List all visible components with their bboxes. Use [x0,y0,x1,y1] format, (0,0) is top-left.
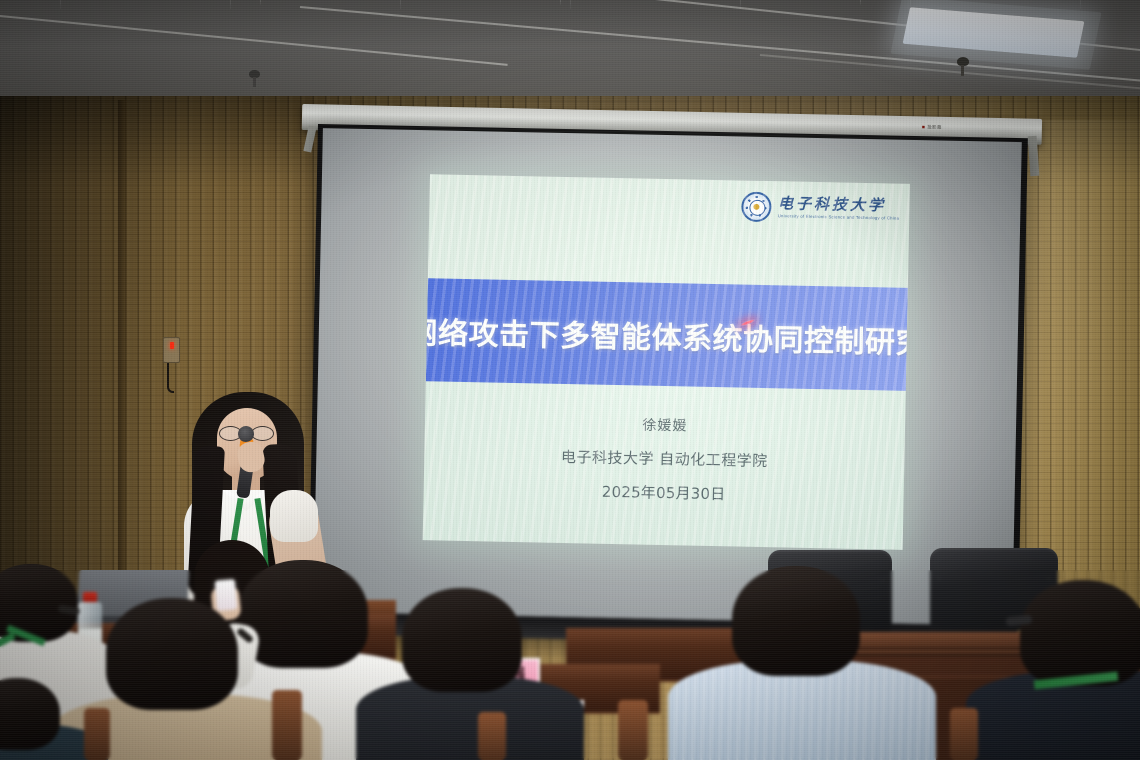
projection-screen: 电子科技大学 University of Electronic Science … [308,124,1028,648]
presenter-affiliation: 电子科技大学 自动化工程学院 [561,446,768,471]
slide-title-band: 网络攻击下多智能体系统协同控制研究 [426,278,908,391]
projected-slide: 电子科技大学 University of Electronic Science … [423,174,910,550]
slide-metadata: 徐媛媛 电子科技大学 自动化工程学院 2025年05月30日 [424,410,906,508]
audience-member-head [732,566,860,676]
glasses-lens-right [251,426,274,441]
audience-member-head [1020,580,1140,686]
presenter-name: 徐媛媛 [642,415,687,436]
wall-control-device[interactable] [163,337,180,363]
screen-surface: 电子科技大学 University of Electronic Science … [313,128,1022,626]
lecture-hall-scene: ■投影幕 电子科技大学 University of Electronic Sci… [0,0,1140,760]
audience-member-head [402,588,522,692]
university-name-en: University of Electronic Science and Tec… [778,214,900,221]
wooden-chair-back [272,690,302,760]
university-logo-text: 电子科技大学 University of Electronic Science … [778,196,900,221]
university-emblem-icon [742,192,773,223]
slide-title: 网络攻击下多智能体系统协同控制研究 [423,307,910,361]
audience-member-head [238,560,368,668]
university-logo: 电子科技大学 University of Electronic Science … [742,191,900,226]
university-name-cn: 电子科技大学 [778,196,900,213]
smartphone-icon[interactable] [215,579,238,611]
presenter-sleeve [270,490,318,542]
wooden-chair-back [618,700,648,760]
emblem-ring-dots [745,195,769,219]
wooden-chair-back [84,708,110,760]
sprinkler-head-icon [957,57,969,66]
presentation-date: 2025年05月30日 [602,481,726,504]
housing-brand-label: ■投影幕 [922,124,942,130]
status-led-icon [170,342,174,349]
wooden-chair-back [478,712,506,760]
housing-brand-text: 投影幕 [927,125,942,130]
wooden-chair-back [950,708,978,760]
sprinkler-head-icon [249,70,260,78]
audience-member-head [106,598,238,710]
